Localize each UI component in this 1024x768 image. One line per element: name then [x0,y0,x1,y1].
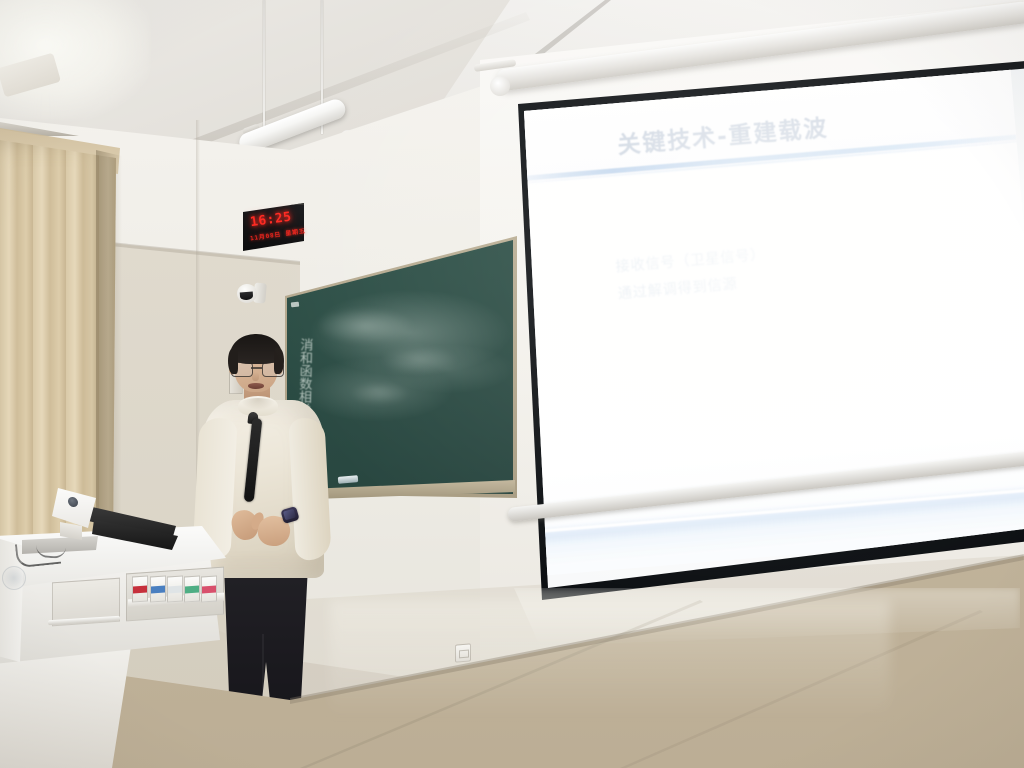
slide-bullets: 接收信号（卫星信号） 通过解调得到信源 [615,221,1018,308]
presenter-collar-shadow [240,398,276,410]
presenter [196,334,346,746]
podium-logo-badge [2,566,26,590]
outlet-socket-slot [459,649,469,658]
chalk-box-red[interactable] [132,575,148,602]
chalk-box-green[interactable] [184,575,200,602]
podium-monitor-camera-icon [68,496,78,507]
presenter-nose [252,372,259,381]
wall-power-outlet[interactable] [455,643,471,662]
presenter-arm-right [288,417,331,561]
glasses-bridge [251,367,262,369]
presenter-hair-side-right [274,348,284,374]
blackboard-magnet [291,302,299,308]
chalk-box-pink[interactable] [201,575,217,602]
presenter-hair-side-left [228,348,238,374]
projected-slide: 关键技术-重建载波 接收信号（卫星信号） 通过解调得到信源 [498,60,1024,612]
chalk-box-blue-label [151,586,165,594]
screen-roller-cap [490,76,510,96]
presenter-mouth [248,383,264,389]
chalk-box-pink-label [202,586,216,594]
chalk-box-blue[interactable] [150,575,166,602]
chalk-box-white-label [168,586,182,594]
projector-screen-surface[interactable]: 关键技术-重建载波 接收信号（卫星信号） 通过解调得到信源 [498,60,1024,612]
chalk-box-green-label [185,586,199,594]
chalk-box-red-label [133,586,147,594]
chalk-box-white[interactable] [167,575,183,602]
classroom-scene: 16:25 11月08日 星期五 消和函数相关 关键技术-重建载波 接收信号（卫… [0,0,1024,768]
